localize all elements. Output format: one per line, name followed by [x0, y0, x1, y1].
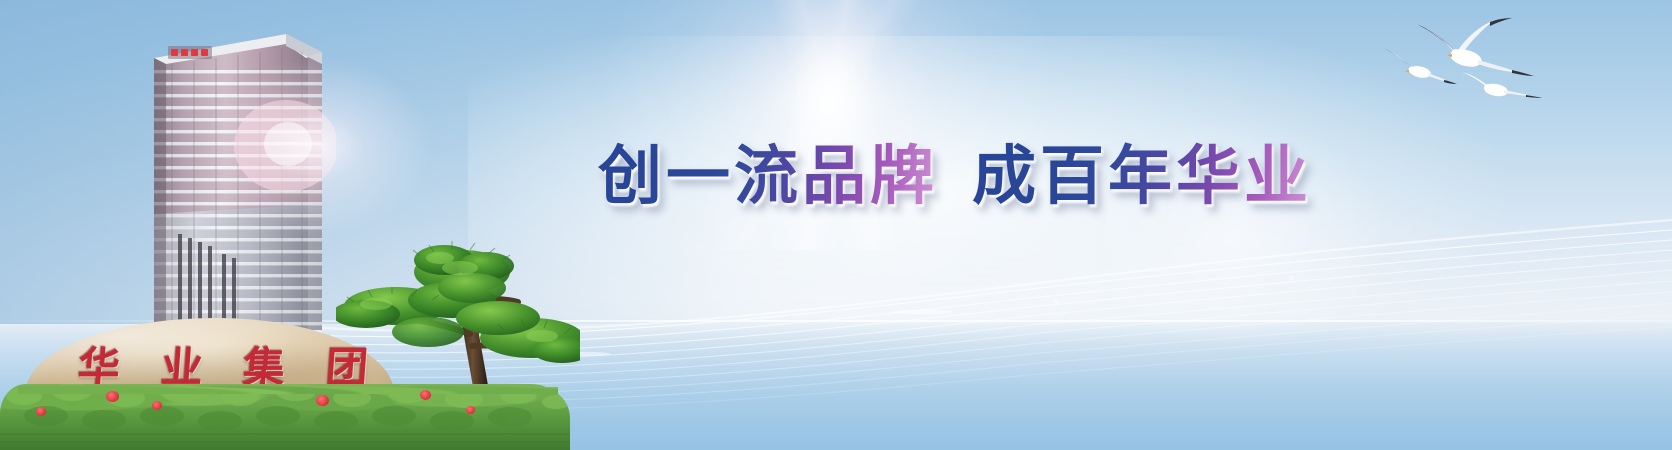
hedge-flower — [466, 406, 475, 414]
hedge-flower — [152, 401, 162, 410]
slogan-part-1: 创一流品牌 — [598, 125, 938, 217]
hedge-crown — [18, 372, 558, 394]
seagull-medium — [1462, 72, 1542, 98]
seagulls — [1378, 6, 1558, 116]
hedge-flower — [36, 407, 46, 416]
hedge-flower — [316, 395, 329, 406]
slogan-part-2: 成百年华业 — [972, 125, 1312, 217]
hedge-flower — [420, 390, 431, 400]
slogan: 创一流品牌 成百年华业 — [598, 130, 1358, 212]
seagull-small — [1384, 48, 1457, 84]
company-banner: 华 业 集 团 — [0, 0, 1672, 450]
building-lens-flare — [203, 56, 433, 236]
hedge-flower — [106, 391, 119, 402]
seagull-large — [1416, 18, 1534, 76]
